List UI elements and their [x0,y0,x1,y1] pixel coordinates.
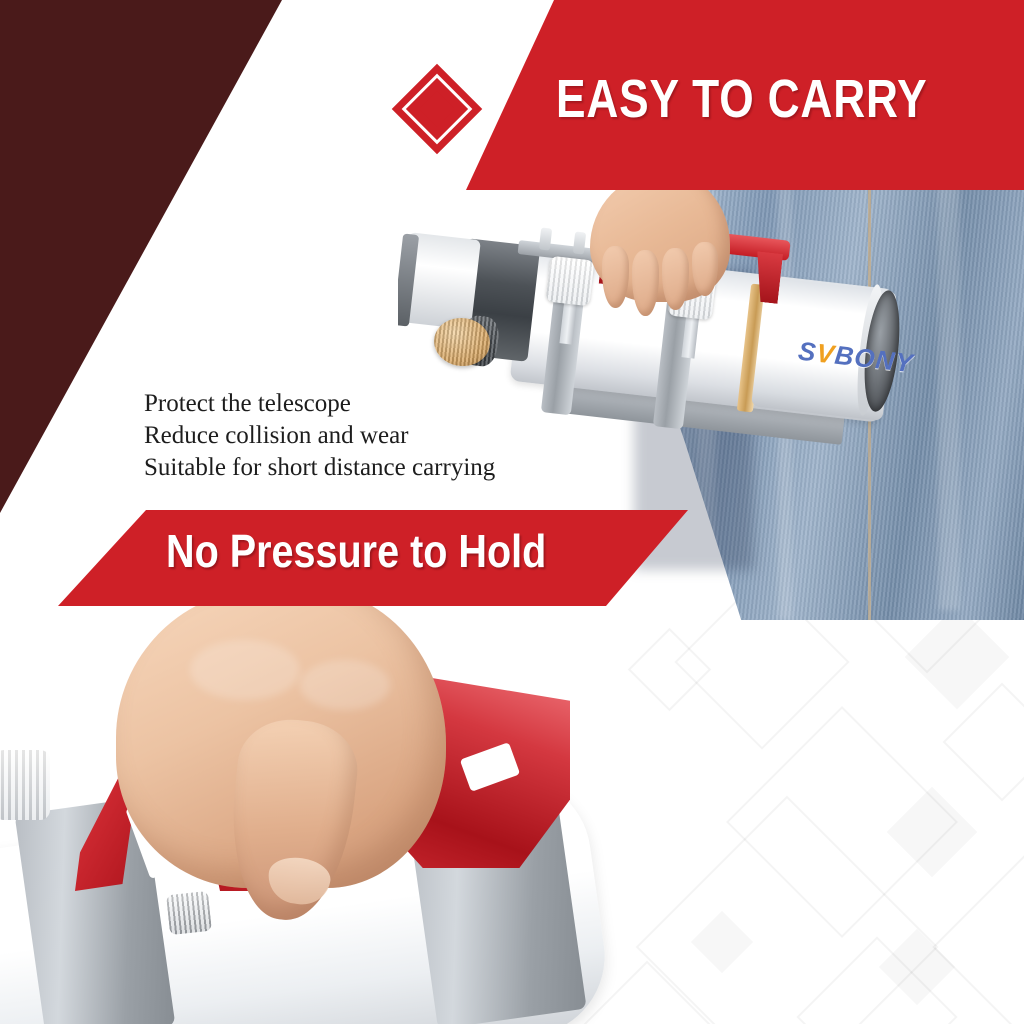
diamond-icon [392,64,483,155]
feature-line-3: Suitable for short distance carrying [144,452,574,484]
feature-line-1: Protect the telescope [144,388,574,420]
feature-line-2: Reduce collision and wear [144,420,574,452]
handle-thumbscrew [166,891,212,935]
banner-no-pressure-to-hold-label: No Pressure to Hold [166,528,546,574]
feature-list: Protect the telescope Reduce collision a… [144,388,574,484]
tube-ring-knob [546,256,595,307]
product-marketing-poster: SVBONY EASY TO CARRY [0,0,1024,1024]
product-photo-handle-closeup [0,600,700,1024]
banner-easy-to-carry-label: EASY TO CARRY [556,72,928,126]
